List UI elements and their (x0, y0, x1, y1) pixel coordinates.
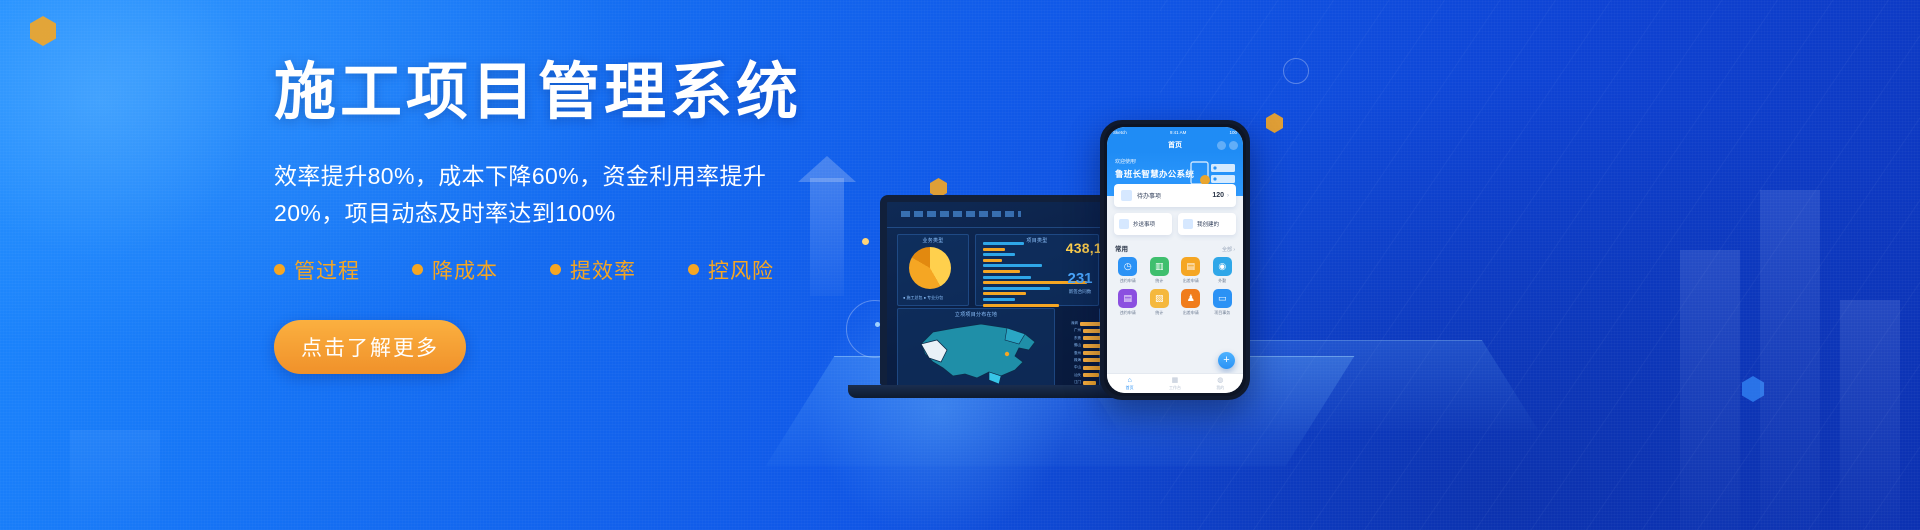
user-icon: ◍ (1198, 377, 1243, 384)
bar (983, 292, 1026, 295)
pie-chart (909, 247, 951, 289)
app-item[interactable]: ▤ 出差申请 (1176, 257, 1206, 284)
feature-label: 控风险 (708, 255, 774, 285)
bar-decoration (70, 430, 160, 530)
app-grid: ◷ 违约申请 ▥ 统计 ▤ 出差申请 ◉ 外勤 (1113, 257, 1237, 316)
chevron-right-icon: › (1227, 193, 1229, 199)
bullet-dot-icon (688, 264, 699, 275)
phone-nav-bar: 首页 (1107, 138, 1243, 152)
phone-nav-buttons[interactable] (1217, 141, 1238, 150)
app-label: 违约申请 (1113, 278, 1143, 284)
bar (983, 276, 1031, 279)
app-label: 统计 (1145, 278, 1175, 284)
people-icon: ▧ (1150, 289, 1169, 308)
bar (983, 287, 1050, 290)
clock-icon: ◷ (1118, 257, 1137, 276)
app-item[interactable]: ▤ 违约申请 (1113, 289, 1143, 316)
target-icon[interactable] (1229, 141, 1238, 150)
app-item[interactable]: ◷ 违约申请 (1113, 257, 1143, 284)
todo-card[interactable]: 待办事项 120 › (1114, 184, 1236, 207)
document-icon: ▤ (1118, 289, 1137, 308)
app-label: 项目事务 (1208, 310, 1238, 316)
quick-action-cc[interactable]: 抄送事项 (1114, 213, 1172, 235)
app-label: 出差申请 (1176, 310, 1206, 316)
banner-subtitle: 效率提升80%，成本下降60%，资金利用率提升20%，项目动态及时率达到100% (274, 158, 794, 233)
todo-count: 120 (1212, 192, 1224, 199)
grid-icon: ▦ (1152, 377, 1197, 384)
quick-action-label: 我创建的 (1197, 220, 1219, 228)
hexagon-icon (30, 16, 56, 46)
glow-decoration-left (0, 0, 260, 260)
todo-icon (1121, 190, 1132, 201)
tab-label: 首页 (1107, 385, 1152, 391)
phone-tab-bar: ⌂ 首页 ▦ 工作台 ◍ 我的 (1107, 373, 1243, 393)
todo-label: 待办事项 (1137, 191, 1212, 200)
status-time: 9:41 AM (1170, 130, 1187, 135)
tab-label: 我的 (1198, 385, 1243, 391)
app-label: 出差申请 (1176, 278, 1206, 284)
quick-action-label: 抄送事项 (1133, 220, 1155, 228)
add-button[interactable]: + (1218, 352, 1235, 369)
plus-doc-icon (1183, 219, 1193, 229)
header-deco-icon (901, 211, 1021, 217)
bar (983, 242, 1024, 245)
quick-actions: 抄送事项 我创建的 (1114, 213, 1236, 235)
quick-action-created[interactable]: 我创建的 (1178, 213, 1236, 235)
phone-status-bar: Sketch 9:41 AM 100 (1107, 127, 1243, 138)
china-map (903, 314, 1053, 385)
common-section-header: 常用 全部 › (1115, 243, 1235, 253)
feature-label: 提效率 (570, 255, 636, 285)
section-more-link[interactable]: 全部 › (1222, 246, 1235, 253)
phone-screen: Sketch 9:41 AM 100 首页 欢迎使用! 鲁班长智慧办公系统 (1107, 127, 1243, 393)
person-icon: ♟ (1181, 289, 1200, 308)
app-item[interactable]: ◉ 外勤 (1208, 257, 1238, 284)
feature-label: 降成本 (432, 255, 498, 285)
bar (983, 304, 1059, 307)
phone-nav-title: 首页 (1168, 140, 1182, 150)
bullet-dot-icon (412, 264, 423, 275)
tab-profile[interactable]: ◍ 我的 (1198, 374, 1243, 393)
location-icon: ◉ (1213, 257, 1232, 276)
pie-panel-title: 业务类型 (898, 237, 968, 244)
device-scene: 市场管理报表 业务类型 ● 施工总包 ● 专业分包 项目类型 (790, 0, 1920, 530)
tab-home[interactable]: ⌂ 首页 (1107, 374, 1152, 393)
chart-icon: ▥ (1150, 257, 1169, 276)
bar (983, 264, 1042, 267)
app-item[interactable]: ▥ 统计 (1145, 257, 1175, 284)
app-item[interactable]: ♟ 出差申请 (1176, 289, 1206, 316)
status-carrier: Sketch (1113, 130, 1127, 135)
app-item[interactable]: ▭ 项目事务 (1208, 289, 1238, 316)
app-label: 外勤 (1208, 278, 1238, 284)
feature-item-2: 降成本 (412, 255, 498, 285)
bar (983, 253, 1015, 256)
feature-item-4: 控风险 (688, 255, 774, 285)
feature-label: 管过程 (294, 255, 360, 285)
china-map-svg (903, 314, 1053, 385)
bar (983, 248, 1005, 251)
learn-more-button[interactable]: 点击了解更多 (274, 320, 466, 374)
phone-mockup: Sketch 9:41 AM 100 首页 欢迎使用! 鲁班长智慧办公系统 (1100, 120, 1250, 400)
pie-legend: ● 施工总包 ● 专业分包 (903, 295, 943, 301)
folder-icon: ▭ (1213, 289, 1232, 308)
bullet-dot-icon (274, 264, 285, 275)
home-icon: ⌂ (1107, 377, 1152, 384)
app-label: 统计 (1145, 310, 1175, 316)
bullet-dot-icon (550, 264, 561, 275)
section-title: 常用 (1115, 243, 1128, 253)
tab-label: 工作台 (1152, 385, 1197, 391)
bar (983, 298, 1015, 301)
status-battery: 100 (1229, 130, 1237, 135)
bar (983, 259, 1002, 262)
feature-item-1: 管过程 (274, 255, 360, 285)
bar (983, 270, 1020, 273)
app-label: 违约申请 (1113, 310, 1143, 316)
car-icon: ▤ (1181, 257, 1200, 276)
more-icon[interactable] (1217, 141, 1226, 150)
app-item[interactable]: ▧ 统计 (1145, 289, 1175, 316)
feature-item-3: 提效率 (550, 255, 636, 285)
send-icon (1119, 219, 1129, 229)
promo-banner: 施工项目管理系统 效率提升80%，成本下降60%，资金利用率提升20%，项目动态… (0, 0, 1920, 530)
tab-workbench[interactable]: ▦ 工作台 (1152, 374, 1197, 393)
